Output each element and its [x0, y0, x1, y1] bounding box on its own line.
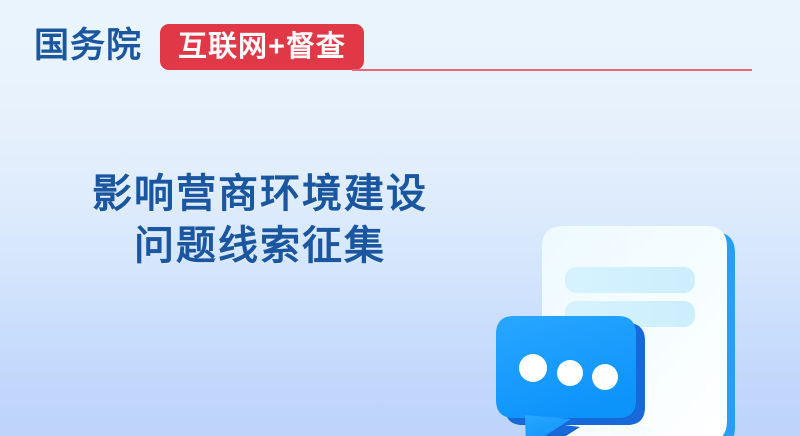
- gov-logo-text: 国务院: [34, 26, 142, 66]
- banner-header: 国务院 互联网+督查: [0, 0, 800, 92]
- campaign-badge-label: 互联网+督查: [178, 32, 346, 62]
- banner-title-line-2: 问题线索征集: [0, 220, 520, 272]
- campaign-badge: 互联网+督查: [160, 24, 364, 70]
- banner-title: 影响营商环境建设 问题线索征集: [0, 168, 520, 272]
- header-divider-rule: [352, 69, 752, 71]
- banner-title-line-1: 影响营商环境建设: [0, 168, 520, 220]
- chat-bubbles-illustration: [490, 218, 780, 436]
